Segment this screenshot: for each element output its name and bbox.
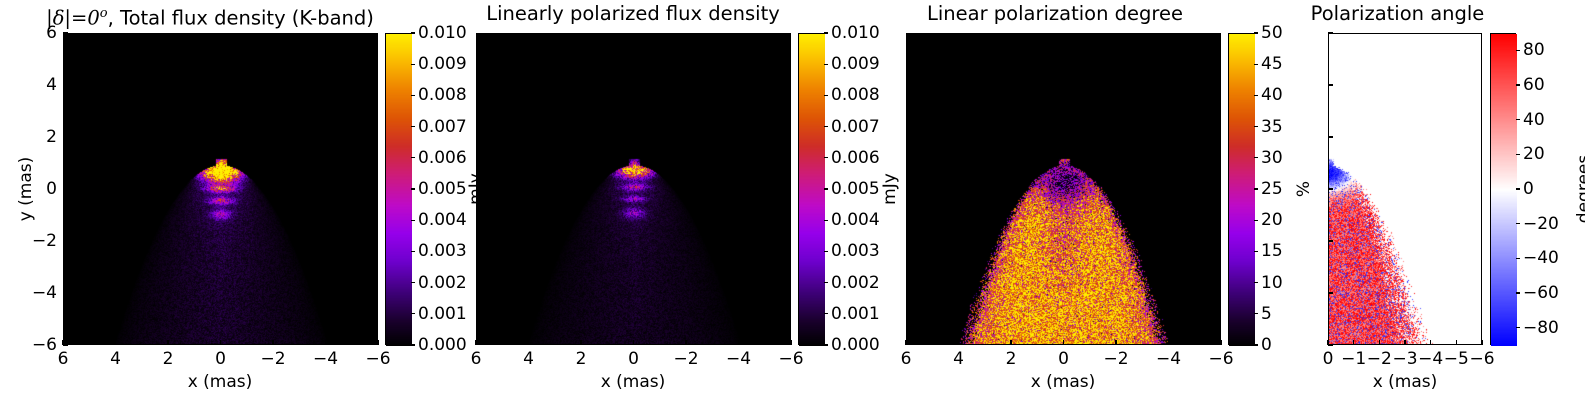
- colorbar-tickmark: [1516, 119, 1520, 120]
- image-total-flux: [64, 34, 378, 345]
- image-polarization-degree: [907, 34, 1221, 345]
- colorbar-tick-label: −80: [1523, 318, 1559, 338]
- colorbar-tick-label: 0: [1261, 335, 1272, 355]
- colorbar-tick-label: −40: [1523, 248, 1559, 268]
- xaxis-tick-label: −2: [673, 349, 698, 369]
- xaxis-tick-label: −5: [1444, 349, 1469, 369]
- xaxis-tick-label: 6: [901, 349, 912, 369]
- xaxis-tickmark: [1379, 340, 1380, 345]
- yaxis-tickmark: [1328, 292, 1333, 293]
- xaxis-tickmark: [220, 340, 221, 345]
- colorbar-tick-label: 45: [1261, 54, 1283, 74]
- panel-total-flux: |δ|=0o, Total flux density (K-band) 6420…: [0, 0, 440, 406]
- yaxis-tickmark: [1328, 136, 1333, 137]
- colorbar-tickmark: [1254, 313, 1258, 314]
- xaxis-tick-label: 4: [953, 349, 964, 369]
- xaxis-tickmark: [580, 340, 581, 345]
- colorbar-tick-label: 25: [1261, 179, 1283, 199]
- colorbar-tickmark: [824, 126, 828, 127]
- xaxis-tickmark: [1220, 340, 1221, 345]
- yaxis-tickmark: [1328, 188, 1333, 189]
- colorbar-gradient-polarization-angle: [1491, 34, 1517, 346]
- xaxis-tick-label: 2: [1006, 349, 1017, 369]
- colorbar-tickmark: [824, 64, 828, 65]
- colorbar-label-polarization-angle: degrees: [1574, 155, 1585, 223]
- colorbar-tickmark: [411, 220, 415, 221]
- colorbar-gradient-total-flux: [386, 34, 412, 346]
- yaxis-tickmark: [63, 136, 68, 137]
- xaxis-tick-label: 0: [1058, 349, 1069, 369]
- colorbar-tickmark: [824, 313, 828, 314]
- xaxis-tickmark: [790, 340, 791, 345]
- xaxis-tick-label: −1: [1341, 349, 1366, 369]
- colorbar-tickmark: [1516, 327, 1520, 328]
- colorbar-tickmark: [1516, 188, 1520, 189]
- xaxis-tick-label: −2: [1103, 349, 1128, 369]
- xaxis-tickmark: [685, 340, 686, 345]
- colorbar-tick-label: 40: [1261, 85, 1283, 105]
- colorbar-tick-label: 40: [1523, 110, 1545, 130]
- xaxis-tick-label: −2: [260, 349, 285, 369]
- axes-polarized-flux[interactable]: [476, 33, 791, 345]
- colorbar-tick-label: 20: [1261, 210, 1283, 230]
- xaxis-tick-label: 2: [576, 349, 587, 369]
- colorbar-tickmark: [1516, 258, 1520, 259]
- colorbar-tickmark: [411, 188, 415, 189]
- panel-polarization-angle: Polarization angle 0−1−2−3−4−5−6 x (mas)…: [1290, 0, 1585, 406]
- yaxis-tick-label: 6: [17, 23, 57, 43]
- colorbar-tickmark: [411, 32, 415, 33]
- colorbar-tickmark: [824, 282, 828, 283]
- xaxis-tickmark: [1353, 340, 1354, 345]
- colorbar-tickmark: [411, 344, 415, 345]
- xaxis-tick-label: −6: [365, 349, 390, 369]
- xaxis-tickmark: [905, 340, 906, 345]
- colorbar-tickmark: [411, 157, 415, 158]
- colorbar-tickmark: [411, 95, 415, 96]
- panel-title-total-flux: |δ|=0o, Total flux density (K-band): [10, 2, 410, 31]
- colorbar-tickmark: [1254, 157, 1258, 158]
- colorbar-tick-label: 15: [1261, 241, 1283, 261]
- xaxis-label-polarization-degree: x (mas): [1031, 372, 1096, 392]
- xaxis-tickmark: [1404, 340, 1405, 345]
- yaxis-tickmark: [63, 292, 68, 293]
- xaxis-tickmark: [1063, 340, 1064, 345]
- colorbar-tick-label: 35: [1261, 117, 1283, 137]
- xaxis-tick-label: −6: [1208, 349, 1233, 369]
- colorbar-total-flux[interactable]: [385, 33, 411, 345]
- yaxis-tick-label: 4: [17, 75, 57, 95]
- colorbar-tickmark: [1254, 126, 1258, 127]
- colorbar-tickmark: [1254, 251, 1258, 252]
- xaxis-tick-label: 4: [523, 349, 534, 369]
- colorbar-tickmark: [824, 188, 828, 189]
- xaxis-tickmark: [62, 340, 63, 345]
- xaxis-tickmark: [115, 340, 116, 345]
- colorbar-tick-label: 0: [1523, 179, 1534, 199]
- yaxis-tickmark: [63, 344, 68, 345]
- xaxis-tick-label: −6: [778, 349, 803, 369]
- xaxis-tickmark: [528, 340, 529, 345]
- xaxis-tickmark: [1430, 340, 1431, 345]
- xaxis-tickmark: [958, 340, 959, 345]
- colorbar-tickmark: [411, 64, 415, 65]
- xaxis-tickmark: [738, 340, 739, 345]
- xaxis-tick-label: −2: [1367, 349, 1392, 369]
- axes-total-flux[interactable]: [63, 33, 378, 345]
- xaxis-tick-label: 0: [215, 349, 226, 369]
- colorbar-tickmark: [411, 126, 415, 127]
- xaxis-tick-label: 0: [628, 349, 639, 369]
- xaxis-tick-label: −3: [1392, 349, 1417, 369]
- xaxis-tick-label: 4: [110, 349, 121, 369]
- colorbar-tick-label: 80: [1523, 40, 1545, 60]
- xaxis-tick-label: 6: [58, 349, 69, 369]
- colorbar-polarization-degree[interactable]: [1228, 33, 1254, 345]
- xaxis-tickmark: [633, 340, 634, 345]
- colorbar-tickmark: [1254, 282, 1258, 283]
- xaxis-tickmark: [1456, 340, 1457, 345]
- yaxis-tick-label: −6: [17, 335, 57, 355]
- panel-polarization-degree: Linear polarization degree 6420−2−4−6 x …: [870, 0, 1290, 406]
- axes-polarization-degree[interactable]: [906, 33, 1221, 345]
- yaxis-tickmark: [63, 188, 68, 189]
- colorbar-tick-label: 10: [1261, 273, 1283, 293]
- xaxis-tickmark: [1010, 340, 1011, 345]
- axes-polarization-angle[interactable]: [1328, 33, 1482, 345]
- yaxis-tickmark: [1328, 32, 1333, 33]
- colorbar-polarized-flux[interactable]: [798, 33, 824, 345]
- xaxis-label-total-flux: x (mas): [188, 372, 253, 392]
- xaxis-tickmark: [272, 340, 273, 345]
- colorbar-tickmark: [1254, 64, 1258, 65]
- xaxis-label-polarization-angle: x (mas): [1373, 372, 1438, 392]
- colorbar-tickmark: [1254, 220, 1258, 221]
- image-polarization-angle: [1329, 34, 1482, 345]
- colorbar-tick-label: 50: [1261, 23, 1283, 43]
- xaxis-label-polarized-flux: x (mas): [601, 372, 666, 392]
- colorbar-tickmark: [1516, 292, 1520, 293]
- xaxis-tickmark: [1481, 340, 1482, 345]
- yaxis-tick-label: 2: [17, 127, 57, 147]
- xaxis-tick-label: 2: [163, 349, 174, 369]
- xaxis-tickmark: [325, 340, 326, 345]
- xaxis-tickmark: [377, 340, 378, 345]
- title-math-equals: =0: [71, 7, 100, 30]
- yaxis-tickmark: [1328, 344, 1333, 345]
- yaxis-tickmark: [1328, 84, 1333, 85]
- title-math-degree: o: [100, 6, 108, 21]
- colorbar-tickmark: [824, 251, 828, 252]
- yaxis-tick-label: −4: [17, 283, 57, 303]
- colorbar-tickmark: [1254, 32, 1258, 33]
- yaxis-tick-label: −2: [17, 231, 57, 251]
- colorbar-tickmark: [1254, 188, 1258, 189]
- xaxis-tick-label: 0: [1323, 349, 1334, 369]
- xaxis-tick-label: −4: [726, 349, 751, 369]
- panel-polarized-flux: Linearly polarized flux density 6420−2−4…: [440, 0, 870, 406]
- xaxis-tickmark: [475, 340, 476, 345]
- yaxis-tickmark: [1328, 240, 1333, 241]
- xaxis-tick-label: 6: [471, 349, 482, 369]
- xaxis-tick-label: −4: [313, 349, 338, 369]
- image-polarized-flux: [477, 34, 791, 345]
- xaxis-tick-label: −4: [1418, 349, 1443, 369]
- colorbar-tickmark: [1516, 223, 1520, 224]
- colorbar-tick-label: 60: [1523, 75, 1545, 95]
- colorbar-gradient-polarization-degree: [1229, 34, 1255, 346]
- xaxis-tickmark: [1115, 340, 1116, 345]
- panel-title-polarization-degree: Linear polarization degree: [870, 2, 1240, 26]
- colorbar-tick-label: −60: [1523, 283, 1559, 303]
- colorbar-tickmark: [411, 282, 415, 283]
- colorbar-tickmark: [411, 251, 415, 252]
- figure-root: |δ|=0o, Total flux density (K-band) 6420…: [0, 0, 1585, 406]
- colorbar-gradient-polarized-flux: [799, 34, 825, 346]
- colorbar-tick-label: 5: [1261, 304, 1272, 324]
- colorbar-tickmark: [1516, 84, 1520, 85]
- colorbar-tickmark: [824, 344, 828, 345]
- xaxis-tick-label: −6: [1469, 349, 1494, 369]
- xaxis-tick-label: −4: [1156, 349, 1181, 369]
- panel-title-polarized-flux: Linearly polarized flux density: [440, 2, 826, 26]
- yaxis-tickmark: [63, 32, 68, 33]
- xaxis-tickmark: [167, 340, 168, 345]
- colorbar-tickmark: [1516, 154, 1520, 155]
- colorbar-tick-label: −20: [1523, 214, 1559, 234]
- xaxis-tickmark: [1168, 340, 1169, 345]
- colorbar-tickmark: [824, 157, 828, 158]
- yaxis-tickmark: [63, 240, 68, 241]
- colorbar-tick-label: 20: [1523, 144, 1545, 164]
- yaxis-tickmark: [63, 84, 68, 85]
- colorbar-tick-label: 30: [1261, 148, 1283, 168]
- colorbar-tickmark: [824, 95, 828, 96]
- colorbar-tickmark: [824, 220, 828, 221]
- yaxis-label-total-flux: y (mas): [16, 157, 36, 222]
- colorbar-polarization-angle[interactable]: [1490, 33, 1516, 345]
- colorbar-tickmark: [824, 32, 828, 33]
- colorbar-tickmark: [1254, 344, 1258, 345]
- title-rest-text: , Total flux density (K-band): [108, 7, 374, 30]
- colorbar-tickmark: [1516, 50, 1520, 51]
- colorbar-tickmark: [411, 313, 415, 314]
- panel-title-polarization-angle: Polarization angle: [1290, 2, 1505, 26]
- colorbar-tickmark: [1254, 95, 1258, 96]
